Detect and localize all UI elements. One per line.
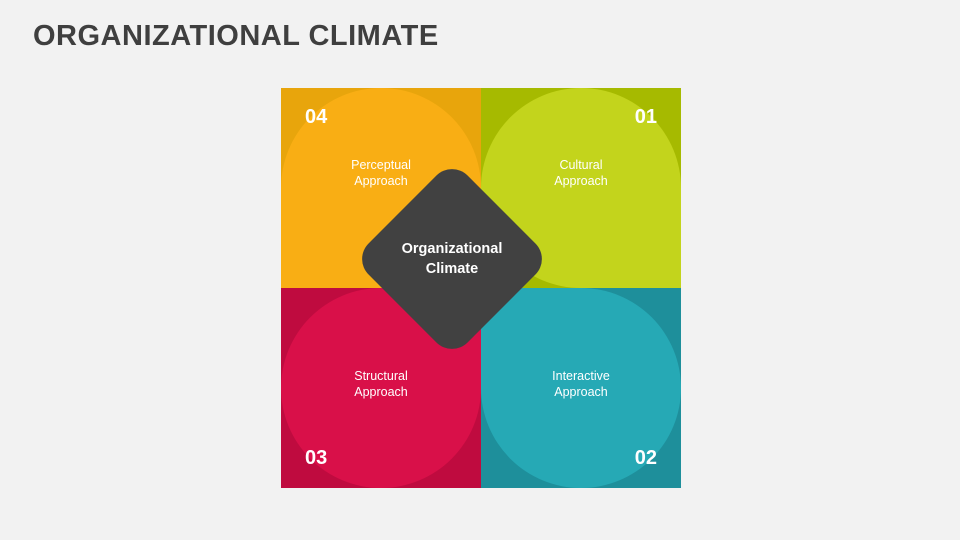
center-label-line2: Climate xyxy=(382,259,522,279)
quadrant-structural-number: 03 xyxy=(305,447,327,470)
center-label-line1: Organizational xyxy=(382,239,522,259)
quadrant-cultural-label: Cultural Approach xyxy=(481,157,681,189)
quadrant-interactive-label-line2: Approach xyxy=(481,384,681,400)
quadrant-structural-label-line2: Approach xyxy=(281,384,481,400)
quadrant-interactive-label-line1: Interactive xyxy=(481,368,681,384)
quadrant-perceptual-number: 04 xyxy=(305,106,327,129)
center-label: Organizational Climate xyxy=(382,239,522,279)
quadrant-cultural-label-line2: Approach xyxy=(481,173,681,189)
quadrant-structural-label-line1: Structural xyxy=(281,368,481,384)
quadrant-interactive-label: Interactive Approach xyxy=(481,368,681,400)
quadrant-structural-label: Structural Approach xyxy=(281,368,481,400)
quadrant-cultural-label-line1: Cultural xyxy=(481,157,681,173)
quadrant-cultural-number: 01 xyxy=(635,106,657,129)
four-petal-diagram: 04 Perceptual Approach 01 Cultural Appro… xyxy=(281,88,681,488)
page-title: ORGANIZATIONAL CLIMATE xyxy=(33,20,439,53)
quadrant-interactive[interactable]: 02 Interactive Approach xyxy=(481,288,681,488)
quadrant-interactive-number: 02 xyxy=(635,447,657,470)
slide: ORGANIZATIONAL CLIMATE 04 Perceptual App… xyxy=(0,0,960,540)
